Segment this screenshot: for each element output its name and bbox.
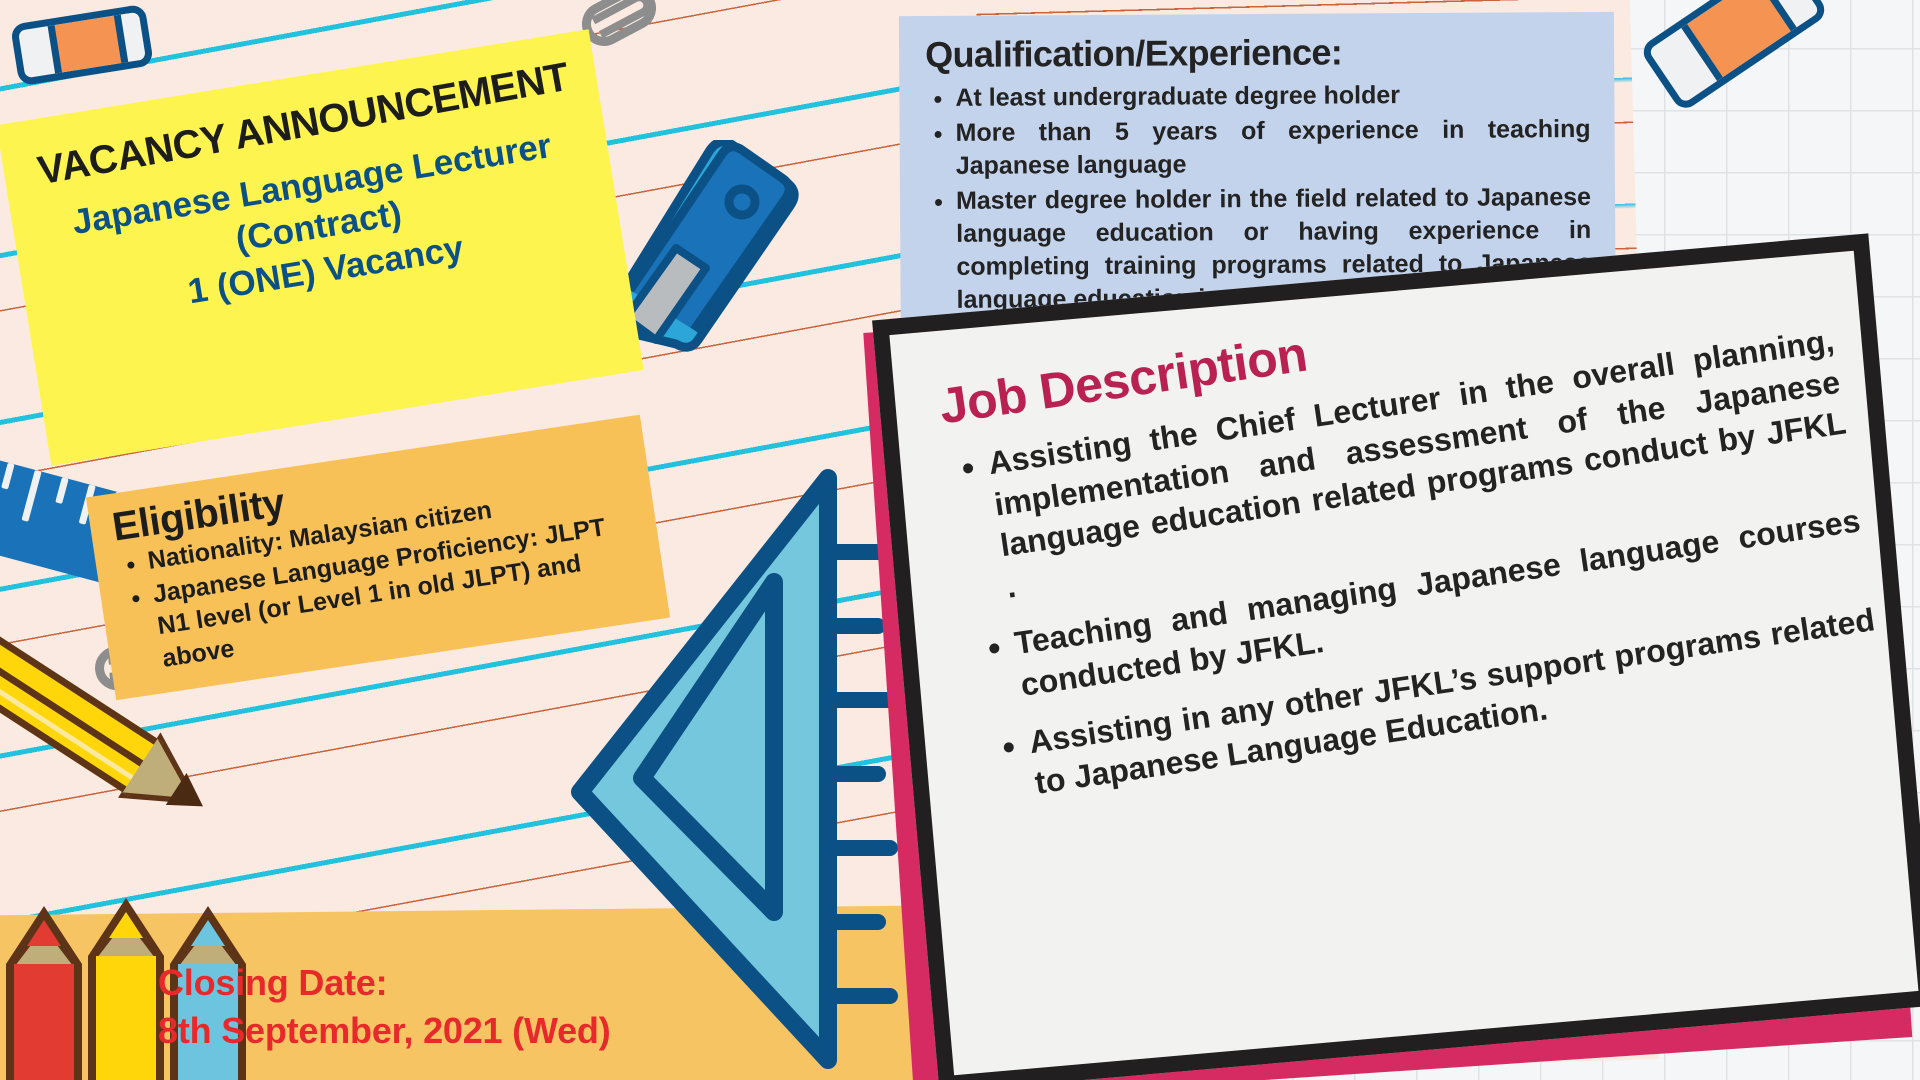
qualification-title: Qualification/Experience: (925, 30, 1590, 76)
job-description-card: Job Description Assisting the Chief Lect… (872, 233, 1920, 1080)
closing-date-block: Closing Date: 8th September, 2021 (Wed) (158, 959, 611, 1056)
closing-date-label: Closing Date: (158, 959, 611, 1008)
poster-canvas: VACANCY ANNOUNCEMENT Japanese Language L… (0, 0, 1920, 1080)
closing-date-value: 8th September, 2021 (Wed) (158, 1007, 611, 1056)
list-item: At least undergraduate degree holder (955, 78, 1590, 115)
list-item: More than 5 years of experience in teach… (956, 113, 1591, 183)
